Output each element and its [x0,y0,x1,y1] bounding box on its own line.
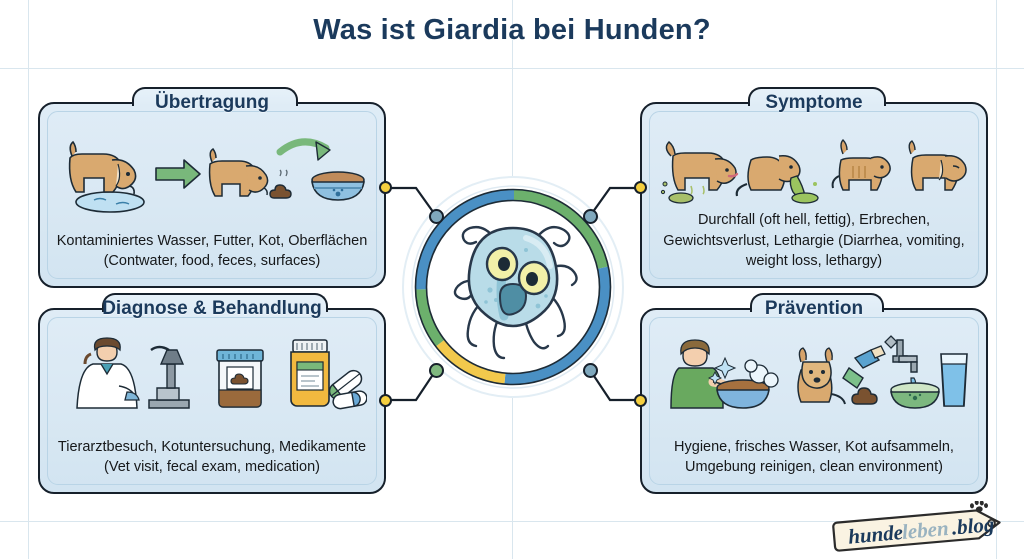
ring-node-top-right [583,209,598,224]
logo-tag: hunde leben .blog [832,501,1018,555]
connector-node-top-left [379,181,392,194]
ring-node-bottom-right [583,363,598,378]
connector-node-bottom-left [379,394,392,407]
connector-node-bottom-right [634,394,647,407]
ring-node-top-left [429,209,444,224]
logo-text-leben: leben [901,516,950,544]
ring-node-bottom-left [429,363,444,378]
infographic-canvas: Was ist Giardia bei Hunden? Übertragung [0,0,1024,559]
connector-lines [0,0,1024,559]
logo-text-blog: .blog [951,512,996,540]
logo-text-hunde: hunde [847,520,904,549]
connector-node-top-right [634,181,647,194]
site-logo[interactable]: hunde leben .blog [832,501,1018,555]
